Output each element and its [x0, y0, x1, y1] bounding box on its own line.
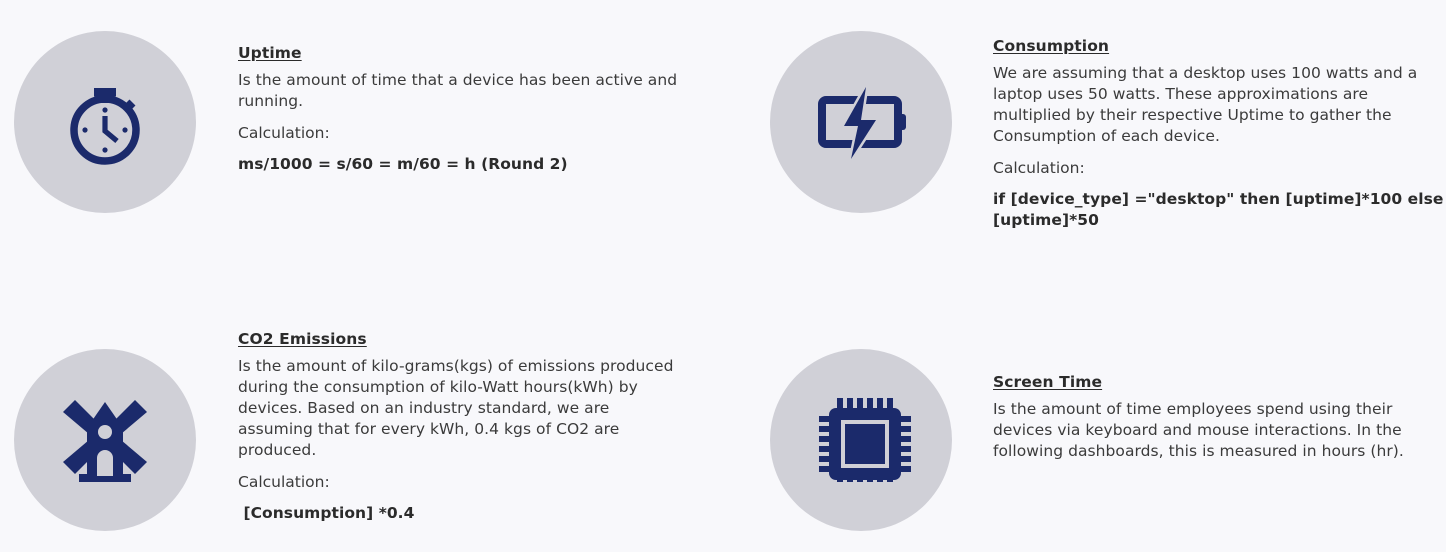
consumption-formula: if [device_type] ="desktop" then [uptime… — [993, 189, 1446, 231]
stopwatch-icon — [53, 70, 157, 174]
metric-card-uptime: Uptime Is the amount of time that a devi… — [0, 0, 723, 276]
uptime-formula: ms/1000 = s/60 = m/60 = h (Round 2) — [238, 154, 690, 175]
co2-text: CO2 Emissions Is the amount of kilo-gram… — [238, 330, 688, 524]
uptime-description: Is the amount of time that a device has … — [238, 70, 690, 112]
screen-time-description: Is the amount of time employees spend us… — [993, 399, 1446, 462]
co2-icon-disc — [14, 349, 196, 531]
co2-heading: CO2 Emissions — [238, 330, 688, 349]
consumption-calculation-label: Calculation: — [993, 158, 1446, 179]
cpu-chip-icon — [811, 390, 911, 490]
co2-calculation-label: Calculation: — [238, 472, 688, 493]
screen-time-text: Screen Time Is the amount of time employ… — [993, 373, 1446, 473]
uptime-heading: Uptime — [238, 44, 690, 63]
windmill-icon — [53, 388, 157, 492]
co2-formula: [Consumption] *0.4 — [238, 503, 688, 524]
consumption-heading: Consumption — [993, 37, 1446, 56]
metric-card-screen-time: Screen Time Is the amount of time employ… — [755, 318, 1446, 552]
uptime-icon-disc — [14, 31, 196, 213]
metric-definitions-board: Uptime Is the amount of time that a devi… — [0, 0, 1446, 552]
co2-description: Is the amount of kilo-grams(kgs) of emis… — [238, 356, 688, 461]
consumption-text: Consumption We are assuming that a deskt… — [993, 37, 1446, 231]
screen-time-icon-disc — [770, 349, 952, 531]
consumption-icon-disc — [770, 31, 952, 213]
screen-time-heading: Screen Time — [993, 373, 1446, 392]
metric-card-co2-emissions: CO2 Emissions Is the amount of kilo-gram… — [0, 318, 723, 552]
metric-card-consumption: Consumption We are assuming that a deskt… — [755, 0, 1446, 276]
uptime-text: Uptime Is the amount of time that a devi… — [238, 44, 690, 175]
consumption-description: We are assuming that a desktop uses 100 … — [993, 63, 1446, 147]
battery-charging-icon — [806, 67, 916, 177]
uptime-calculation-label: Calculation: — [238, 123, 690, 144]
